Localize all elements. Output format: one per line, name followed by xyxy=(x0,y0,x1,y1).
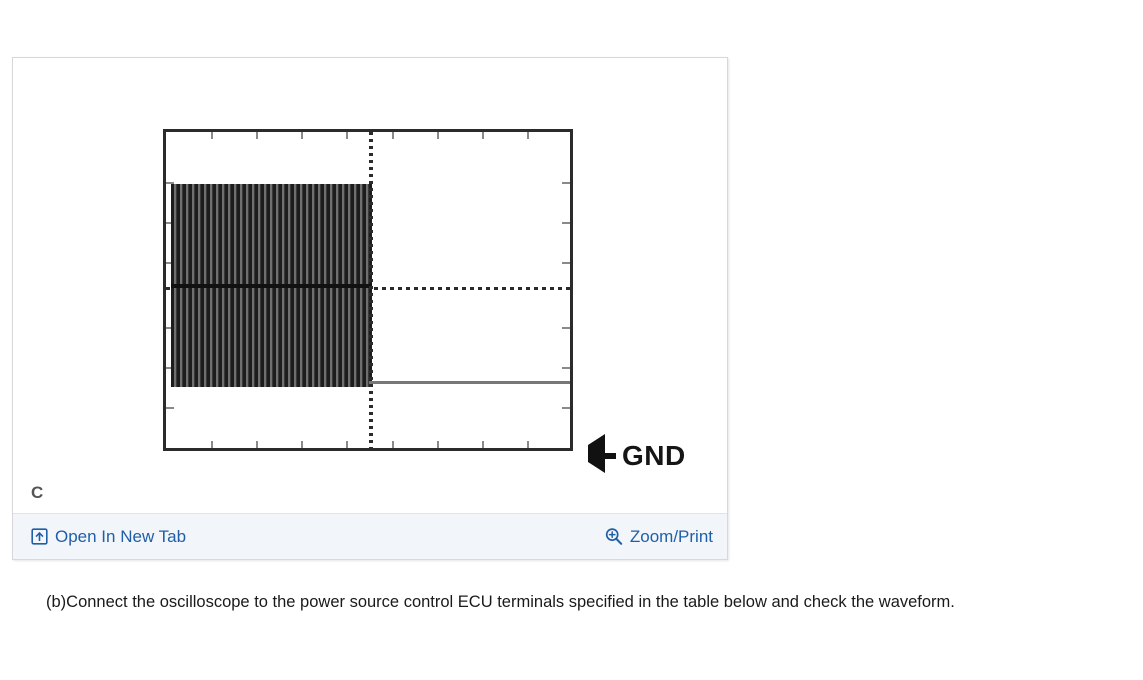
grid-tick-top xyxy=(211,132,213,139)
grid-tick-right xyxy=(562,407,570,409)
magnifier-plus-icon xyxy=(604,527,623,546)
open-in-new-tab-label: Open In New Tab xyxy=(55,527,186,547)
grid-tick-top xyxy=(527,132,529,139)
grid-tick-bottom xyxy=(346,441,348,448)
caption-text: (b)Connect the oscilloscope to the power… xyxy=(46,593,955,611)
grid-tick-right xyxy=(562,327,570,329)
gnd-flat-trace xyxy=(369,381,570,384)
grid-tick-bottom xyxy=(256,441,258,448)
image-toolbar: Open In New Tab Zoom/Print xyxy=(13,513,727,559)
grid-tick-top xyxy=(437,132,439,139)
figure-corner-letter: C xyxy=(31,483,43,503)
oscilloscope-screen xyxy=(163,129,573,451)
image-viewer-card: GND C Open In New Tab xyxy=(12,57,728,560)
grid-tick-bottom xyxy=(437,441,439,448)
grid-tick-right xyxy=(562,222,570,224)
grid-tick-left xyxy=(166,407,174,409)
grid-tick-bottom xyxy=(392,441,394,448)
figure-caption: (b)Connect the oscilloscope to the power… xyxy=(12,588,1130,617)
grid-tick-bottom xyxy=(301,441,303,448)
cursor-line-vertical xyxy=(369,132,373,448)
grid-tick-top xyxy=(482,132,484,139)
grid-tick-right xyxy=(562,367,570,369)
grid-tick-bottom xyxy=(211,441,213,448)
grid-tick-top xyxy=(256,132,258,139)
pwm-pulse-burst-trace xyxy=(171,184,372,387)
open-in-new-tab-icon xyxy=(31,528,48,545)
grid-tick-top xyxy=(301,132,303,139)
gnd-callout: GND xyxy=(588,440,686,472)
grid-tick-top xyxy=(392,132,394,139)
grid-tick-bottom xyxy=(482,441,484,448)
zoom-print-button[interactable]: Zoom/Print xyxy=(604,527,713,547)
gnd-label: GND xyxy=(622,440,686,472)
left-arrow-tail xyxy=(602,453,616,459)
grid-tick-right xyxy=(562,262,570,264)
zoom-print-label: Zoom/Print xyxy=(630,527,713,547)
figure-area: GND C xyxy=(13,58,727,513)
grid-tick-top xyxy=(346,132,348,139)
open-in-new-tab-button[interactable]: Open In New Tab xyxy=(31,527,186,547)
grid-tick-bottom xyxy=(527,441,529,448)
grid-tick-right xyxy=(562,182,570,184)
